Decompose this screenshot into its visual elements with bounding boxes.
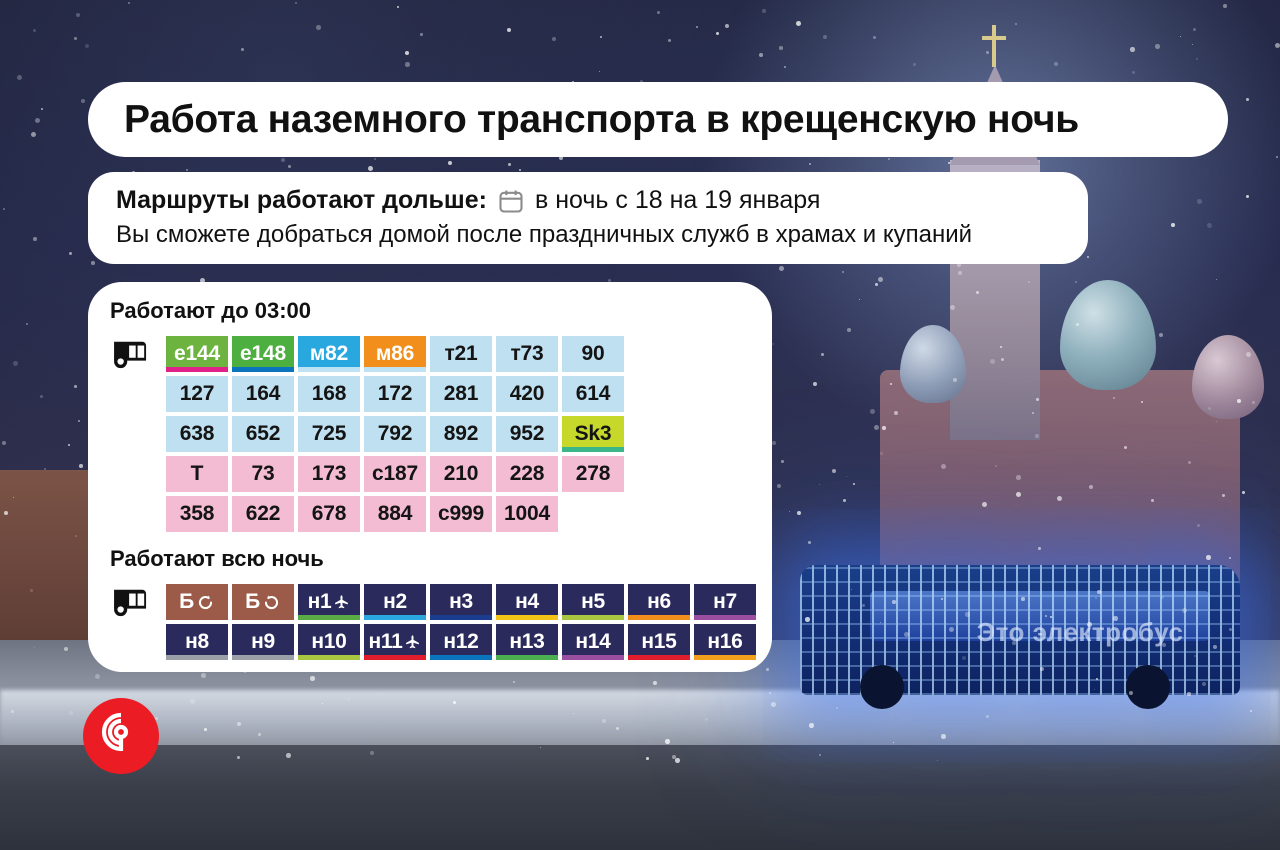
route-label: н6 — [647, 590, 671, 614]
bus-icon — [110, 336, 162, 372]
route-accent-bar — [298, 655, 360, 660]
route-label: 127 — [180, 382, 214, 406]
route-label: 792 — [378, 422, 412, 446]
route-badge[interactable]: 173 — [298, 456, 360, 492]
route-badge[interactable]: н10 — [298, 624, 360, 660]
route-accent-bar — [562, 615, 624, 620]
route-label: 172 — [378, 382, 412, 406]
row-spacer — [110, 456, 162, 492]
route-badge[interactable]: 127 — [166, 376, 228, 412]
all-night-heading: Работают всю ночь — [110, 546, 750, 572]
route-badge[interactable]: 281 — [430, 376, 492, 412]
until-three-heading: Работают до 03:00 — [110, 298, 750, 324]
route-label: м86 — [376, 342, 414, 366]
route-accent-bar — [694, 615, 756, 620]
route-label: т73 — [510, 342, 543, 366]
route-badge[interactable]: Т — [166, 456, 228, 492]
subtitle-note: Вы сможете добраться домой после праздни… — [116, 221, 1060, 249]
until-three-route-grid: e144 e148 м82 м86 т21 т73 90 127 — [110, 336, 750, 532]
route-badge[interactable]: 164 — [232, 376, 294, 412]
route-label: н14 — [575, 630, 610, 654]
route-label: 90 — [582, 342, 605, 366]
route-row: 638 652 725 792 892 952 Sk3 — [110, 416, 750, 452]
route-label: 281 — [444, 382, 478, 406]
route-accent-bar — [562, 655, 624, 660]
route-label: 1004 — [504, 502, 550, 526]
row-spacer — [110, 376, 162, 412]
route-badge[interactable]: 278 — [562, 456, 624, 492]
route-badge[interactable]: 652 — [232, 416, 294, 452]
route-badge[interactable]: н11 — [364, 624, 426, 660]
route-badge[interactable]: 884 — [364, 496, 426, 532]
route-label: 173 — [312, 462, 346, 486]
route-badge[interactable]: 210 — [430, 456, 492, 492]
route-badge[interactable]: н4 — [496, 584, 558, 620]
route-badge[interactable]: м86 — [364, 336, 426, 372]
route-row: н8 н9 н10 н11 н12 н13 н14 н15 — [110, 624, 750, 660]
row-spacer — [110, 496, 162, 532]
route-label: н1 — [308, 590, 332, 614]
route-badge[interactable]: 638 — [166, 416, 228, 452]
route-accent-bar — [232, 367, 294, 372]
route-label: н7 — [713, 590, 737, 614]
route-label: н15 — [641, 630, 676, 654]
route-label: 228 — [510, 462, 544, 486]
route-row: 127 164 168 172 281 420 614 — [110, 376, 750, 412]
route-badge[interactable]: 725 — [298, 416, 360, 452]
route-label: м82 — [310, 342, 348, 366]
route-label: e144 — [174, 342, 220, 366]
plane-icon — [404, 634, 421, 651]
route-label: 652 — [246, 422, 280, 446]
route-label: 164 — [246, 382, 280, 406]
route-label: 73 — [252, 462, 275, 486]
route-badge[interactable]: н12 — [430, 624, 492, 660]
route-accent-bar — [562, 447, 624, 452]
route-label: 884 — [378, 502, 412, 526]
route-badge[interactable]: н15 — [628, 624, 690, 660]
route-badge[interactable]: 420 — [496, 376, 558, 412]
subtitle-label: Маршруты работают дольше: — [116, 186, 487, 215]
route-badge[interactable]: н7 — [694, 584, 756, 620]
route-label: н9 — [251, 630, 275, 654]
route-badge[interactable]: н5 — [562, 584, 624, 620]
route-badge[interactable]: e148 — [232, 336, 294, 372]
route-badge[interactable]: 622 — [232, 496, 294, 532]
title-card: Работа наземного транспорта в крещенскую… — [88, 82, 1228, 157]
route-label: Sk3 — [575, 422, 612, 446]
route-badge[interactable]: т21 — [430, 336, 492, 372]
route-label: Т — [191, 462, 204, 486]
route-label: н11 — [369, 630, 403, 654]
route-badge[interactable]: 172 — [364, 376, 426, 412]
route-accent-bar — [298, 615, 360, 620]
route-label: н8 — [185, 630, 209, 654]
route-badge[interactable]: Б — [166, 584, 228, 620]
route-accent-bar — [364, 655, 426, 660]
ring-cw-icon — [196, 593, 215, 612]
route-badge[interactable]: 90 — [562, 336, 624, 372]
route-accent-bar — [430, 655, 492, 660]
route-badge[interactable]: н14 — [562, 624, 624, 660]
route-label: н10 — [311, 630, 346, 654]
route-accent-bar — [694, 655, 756, 660]
route-accent-bar — [628, 655, 690, 660]
page-title: Работа наземного транспорта в крещенскую… — [124, 98, 1079, 142]
route-badge[interactable]: e144 — [166, 336, 228, 372]
route-badge[interactable]: Sk3 — [562, 416, 624, 452]
route-label: 420 — [510, 382, 544, 406]
route-label: 952 — [510, 422, 544, 446]
route-label: 892 — [444, 422, 478, 446]
route-badge[interactable]: н2 — [364, 584, 426, 620]
route-label: e148 — [240, 342, 286, 366]
plane-icon — [333, 594, 350, 611]
route-row: e144 e148 м82 м86 т21 т73 90 — [110, 336, 750, 372]
snowbank — [0, 690, 1280, 750]
row-spacer — [110, 416, 162, 452]
route-badge[interactable]: н1 — [298, 584, 360, 620]
subtitle-card: Маршруты работают дольше: в ночь с 18 на… — [88, 172, 1088, 264]
route-accent-bar — [628, 615, 690, 620]
route-label: н12 — [443, 630, 478, 654]
route-label: Б — [245, 590, 260, 614]
route-label: 278 — [576, 462, 610, 486]
route-badge[interactable]: н3 — [430, 584, 492, 620]
subtitle-line-primary: Маршруты работают дольше: в ночь с 18 на… — [116, 186, 1060, 215]
route-label: т21 — [444, 342, 477, 366]
row-spacer — [110, 624, 162, 660]
route-accent-bar — [430, 615, 492, 620]
route-badge[interactable]: м82 — [298, 336, 360, 372]
route-label: 725 — [312, 422, 346, 446]
route-accent-bar — [496, 655, 558, 660]
route-badge[interactable]: 358 — [166, 496, 228, 532]
route-badge[interactable]: н6 — [628, 584, 690, 620]
route-label: н5 — [581, 590, 605, 614]
route-badge[interactable]: 168 — [298, 376, 360, 412]
route-badge[interactable]: 678 — [298, 496, 360, 532]
route-label: с187 — [372, 462, 418, 486]
route-label: н2 — [383, 590, 407, 614]
calendar-icon — [497, 187, 525, 215]
route-row: Т 73 173 с187 210 228 278 — [110, 456, 750, 492]
ring-ccw-icon — [262, 593, 281, 612]
route-label: 622 — [246, 502, 280, 526]
road — [0, 745, 1280, 850]
route-label: 678 — [312, 502, 346, 526]
route-label: 168 — [312, 382, 346, 406]
route-accent-bar — [166, 655, 228, 660]
route-badge[interactable]: 228 — [496, 456, 558, 492]
route-accent-bar — [364, 367, 426, 372]
route-badge[interactable]: н13 — [496, 624, 558, 660]
route-label: н3 — [449, 590, 473, 614]
route-badge[interactable]: н8 — [166, 624, 228, 660]
route-accent-bar — [496, 615, 558, 620]
route-badge[interactable]: 792 — [364, 416, 426, 452]
route-badge[interactable]: н16 — [694, 624, 756, 660]
route-badge[interactable]: Б — [232, 584, 294, 620]
route-label: 358 — [180, 502, 214, 526]
route-label: н13 — [509, 630, 544, 654]
route-label: Б — [179, 590, 194, 614]
route-badge[interactable]: 614 — [562, 376, 624, 412]
route-badge[interactable]: 952 — [496, 416, 558, 452]
route-row: 358 622 678 884 с999 1004 — [110, 496, 750, 532]
bus-icon — [110, 584, 162, 620]
route-label: 210 — [444, 462, 478, 486]
route-label: с999 — [438, 502, 484, 526]
routes-card: Работают до 03:00 e144 e148 м82 м86 т21 — [88, 282, 772, 672]
route-label: н16 — [707, 630, 742, 654]
subtitle-date: в ночь с 18 на 19 января — [535, 186, 820, 215]
route-label: 638 — [180, 422, 214, 446]
all-night-route-grid: Б Б н1 н2 н3 н4 н5 — [110, 584, 750, 660]
route-label: 614 — [576, 382, 610, 406]
route-badge[interactable]: 73 — [232, 456, 294, 492]
route-badge[interactable]: 1004 — [496, 496, 558, 532]
route-badge[interactable]: т73 — [496, 336, 558, 372]
route-row: Б Б н1 н2 н3 н4 н5 — [110, 584, 750, 620]
route-badge[interactable]: с187 — [364, 456, 426, 492]
moscow-transport-logo — [83, 698, 159, 774]
illuminated-electrobus — [800, 565, 1240, 695]
route-accent-bar — [232, 655, 294, 660]
route-accent-bar — [166, 367, 228, 372]
route-badge[interactable]: н9 — [232, 624, 294, 660]
route-accent-bar — [298, 367, 360, 372]
route-label: н4 — [515, 590, 539, 614]
route-badge[interactable]: с999 — [430, 496, 492, 532]
route-accent-bar — [364, 615, 426, 620]
route-badge[interactable]: 892 — [430, 416, 492, 452]
